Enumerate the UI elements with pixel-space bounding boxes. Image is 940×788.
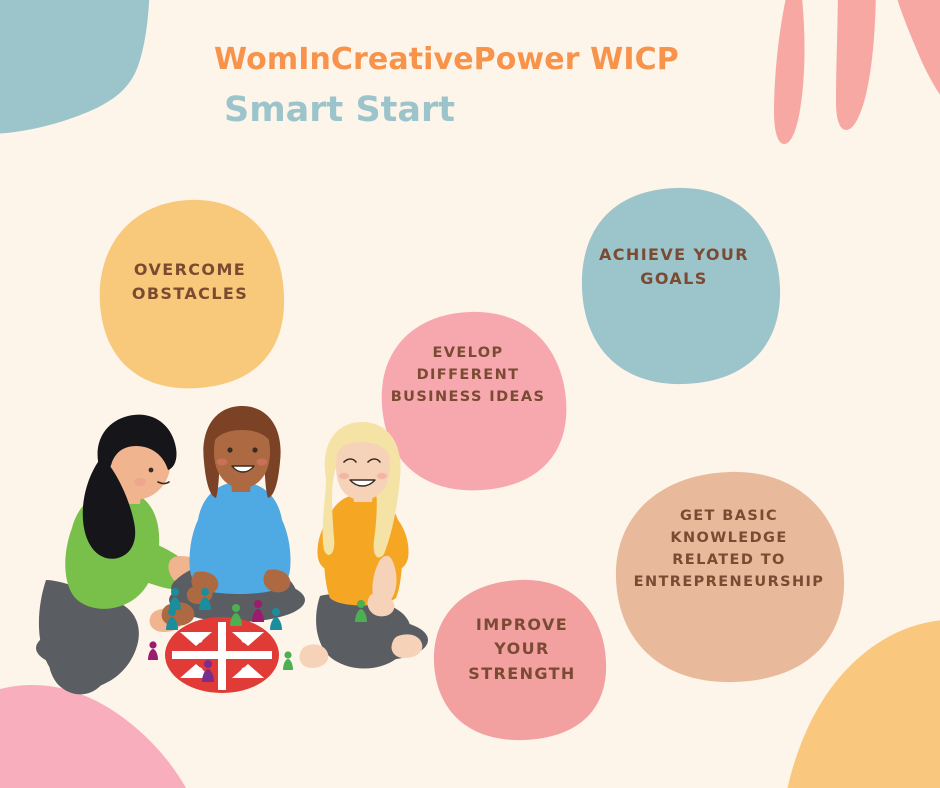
bubble-shape-entrepreneurship-knowledge[interactable]: [616, 472, 844, 682]
brand-title: WomInCreativePower WICP: [214, 44, 834, 76]
bubble-shape-develop-business-ideas[interactable]: [382, 312, 567, 490]
bubble-shape-improve-your-strength[interactable]: [434, 580, 606, 740]
bubble-shape-overcome-obstacles[interactable]: [100, 200, 284, 388]
title-block: WomInCreativePower WICP Smart Start: [214, 44, 834, 128]
bubble-shape-achieve-your-goals[interactable]: [582, 188, 780, 384]
poster-canvas: WomInCreativePower WICP Smart Start Over…: [0, 0, 940, 788]
page-subtitle: Smart Start: [224, 92, 834, 129]
